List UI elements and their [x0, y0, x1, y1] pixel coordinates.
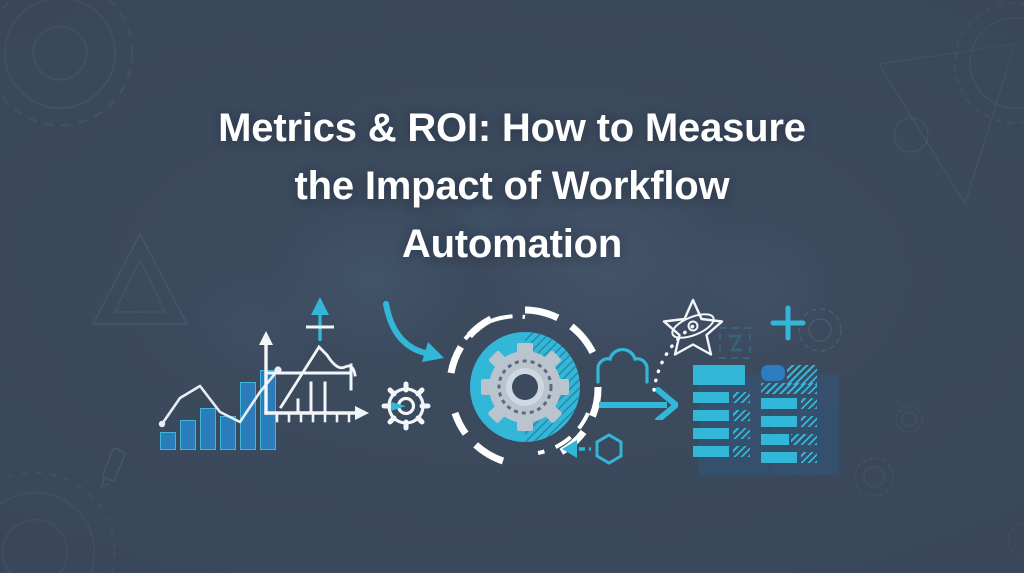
hero-banner: Metrics & ROI: How to Measure the Impact…	[0, 0, 1024, 573]
pencil-icon	[95, 445, 135, 490]
left-hatch-2	[733, 410, 750, 421]
cyan-up-arrow-icon	[306, 297, 334, 341]
x-axis-arrowhead	[355, 406, 369, 420]
vignette-overlay	[0, 0, 1024, 573]
bracket-icon	[718, 326, 752, 365]
small-gear-icon	[378, 378, 434, 434]
right-row-2	[761, 416, 797, 427]
plus-icon	[770, 305, 806, 346]
left-row-4	[693, 446, 729, 457]
left-row-2	[693, 410, 729, 421]
y-axis-arrowhead	[259, 331, 273, 345]
left-hatch-1	[733, 392, 750, 403]
right-hatch-4	[801, 452, 817, 463]
background-gear-small-icon	[888, 398, 930, 440]
right-header-cell	[761, 365, 785, 381]
left-hatch-4	[733, 446, 750, 457]
left-row-3	[693, 428, 729, 439]
background-gear-corner-icon	[1000, 515, 1024, 565]
title-line-1: Metrics & ROI: How to Measure	[0, 99, 1024, 157]
axis-chart-icon	[255, 295, 385, 430]
background-gear-bottom-icon	[845, 448, 903, 506]
arrow-left-icon	[560, 436, 592, 467]
right-hatch-2	[801, 416, 817, 427]
left-header-cell	[693, 365, 745, 385]
right-hatch-1	[801, 398, 817, 409]
right-row-4	[761, 452, 797, 463]
hexagon-icon	[592, 432, 626, 471]
star-icon	[662, 296, 724, 361]
left-hatch-3	[733, 428, 750, 439]
background-layer	[0, 0, 1024, 573]
cloud-icon	[592, 348, 654, 391]
right-row-1	[761, 398, 797, 409]
right-header-hatch-2	[761, 383, 817, 394]
table-panel-icon	[693, 365, 835, 475]
background-gear-large-icon	[0, 462, 125, 573]
right-row-3	[761, 434, 789, 445]
right-header-hatch	[787, 365, 817, 385]
panel-shadow-left	[699, 375, 769, 475]
title-line-3: Automation	[0, 215, 1024, 273]
right-hatch-3	[791, 434, 817, 445]
left-row-1	[693, 392, 729, 403]
title-line-2: the Impact of Workflow	[0, 157, 1024, 215]
page-title: Metrics & ROI: How to Measure the Impact…	[0, 99, 1024, 273]
inner-gear	[481, 343, 569, 431]
